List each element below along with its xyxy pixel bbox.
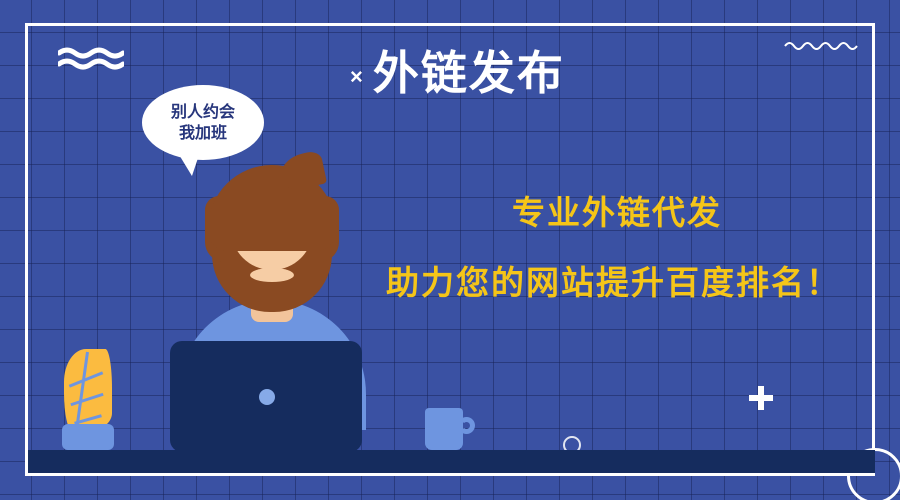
coffee-mug-handle — [458, 417, 475, 434]
person-mouth — [250, 268, 294, 282]
banner-canvas: × 外链发布 专业外链代发 助力您的网站提升百度排名！ 别人约会 我加班 — [0, 0, 900, 500]
coffee-mug-icon — [425, 408, 463, 450]
laptop-logo-icon — [259, 389, 275, 405]
plant-pot-icon — [62, 424, 114, 450]
desk-surface — [28, 450, 875, 473]
